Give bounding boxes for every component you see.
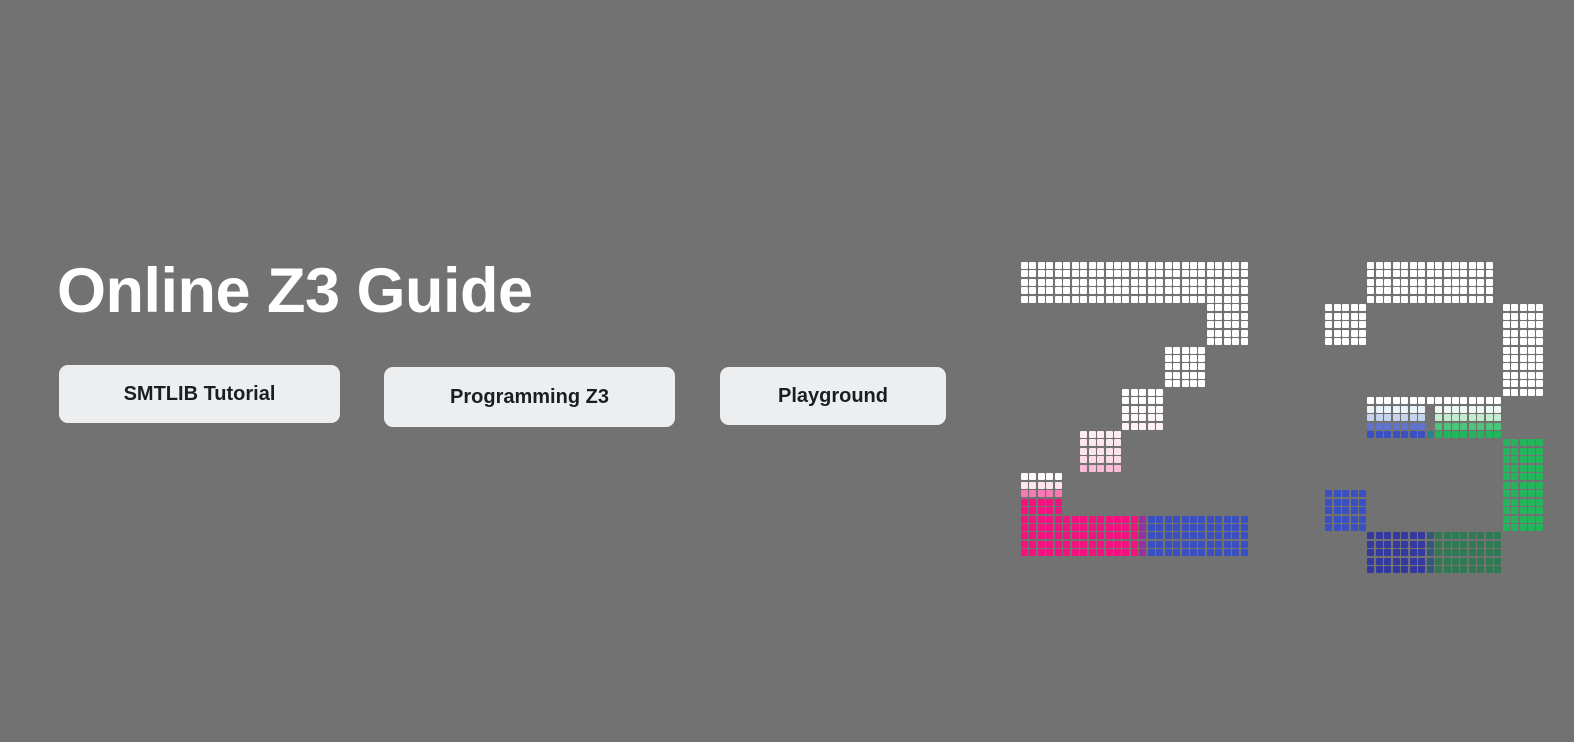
logo-pixel	[1444, 558, 1451, 565]
logo-pixel	[1148, 270, 1155, 277]
logo-pixel	[1055, 532, 1062, 539]
logo-pixel	[1224, 541, 1231, 548]
logo-pixel	[1046, 499, 1053, 506]
logo-pixel	[1520, 380, 1527, 387]
logo-pixel	[1486, 406, 1493, 413]
logo-pixel	[1190, 541, 1197, 548]
logo-pixel	[1511, 380, 1518, 387]
logo-pixel	[1215, 338, 1222, 345]
logo-pixel	[1114, 287, 1121, 294]
logo-pixel	[1241, 279, 1248, 286]
logo-pixel	[1207, 321, 1214, 328]
logo-pixel	[1393, 423, 1400, 430]
logo-pixel	[1503, 363, 1510, 370]
logo-pixel	[1376, 532, 1383, 539]
logo-pixel	[1520, 482, 1527, 489]
logo-pixel	[1427, 423, 1434, 430]
logo-pixel	[1089, 524, 1096, 531]
logo-pixel	[1122, 549, 1129, 556]
logo-pixel	[1444, 414, 1451, 421]
logo-pixel	[1080, 296, 1087, 303]
logo-pixel	[1122, 397, 1129, 404]
logo-pixel	[1072, 279, 1079, 286]
logo-pixel	[1367, 549, 1374, 556]
logo-pixel	[1536, 524, 1543, 531]
logo-pixel	[1444, 406, 1451, 413]
logo-pixel	[1131, 389, 1138, 396]
logo-pixel	[1444, 270, 1451, 277]
logo-pixel	[1367, 431, 1374, 438]
logo-pixel	[1198, 541, 1205, 548]
logo-pixel	[1494, 406, 1501, 413]
logo-pixel	[1089, 287, 1096, 294]
page-title: Online Z3 Guide	[57, 258, 957, 324]
logo-pixel	[1410, 532, 1417, 539]
logo-pixel	[1435, 566, 1442, 573]
logo-pixel	[1410, 549, 1417, 556]
logo-pixel	[1198, 296, 1205, 303]
logo-pixel	[1520, 499, 1527, 506]
logo-pixel	[1207, 313, 1214, 320]
logo-pixel	[1182, 347, 1189, 354]
logo-pixel	[1131, 414, 1138, 421]
logo-pixel	[1460, 532, 1467, 539]
logo-pixel	[1511, 507, 1518, 514]
logo-pixel	[1089, 456, 1096, 463]
logo-pixel	[1503, 380, 1510, 387]
logo-pixel	[1114, 279, 1121, 286]
logo-pixel	[1114, 532, 1121, 539]
logo-pixel	[1393, 287, 1400, 294]
logo-pixel	[1401, 287, 1408, 294]
logo-pixel	[1165, 549, 1172, 556]
logo-pixel	[1038, 270, 1045, 277]
logo-pixel	[1131, 549, 1138, 556]
logo-pixel	[1241, 516, 1248, 523]
logo-pixel	[1148, 262, 1155, 269]
logo-pixel	[1097, 287, 1104, 294]
logo-pixel	[1427, 431, 1434, 438]
logo-pixel	[1342, 524, 1349, 531]
logo-pixel	[1410, 431, 1417, 438]
logo-pixel	[1021, 473, 1028, 480]
logo-pixel	[1334, 330, 1341, 337]
logo-pixel	[1469, 414, 1476, 421]
logo-pixel	[1106, 516, 1113, 523]
logo-pixel	[1376, 287, 1383, 294]
logo-pixel	[1021, 549, 1028, 556]
logo-pixel	[1224, 304, 1231, 311]
logo-pixel	[1477, 262, 1484, 269]
logo-pixel	[1503, 338, 1510, 345]
logo-pixel	[1114, 524, 1121, 531]
logo-pixel	[1114, 465, 1121, 472]
logo-pixel	[1114, 448, 1121, 455]
logo-pixel	[1198, 279, 1205, 286]
programming-z3-button[interactable]: Programming Z3	[384, 367, 675, 427]
logo-pixel	[1384, 279, 1391, 286]
logo-pixel	[1460, 558, 1467, 565]
logo-pixel	[1325, 330, 1332, 337]
logo-pixel	[1190, 549, 1197, 556]
logo-pixel	[1182, 287, 1189, 294]
logo-pixel	[1410, 566, 1417, 573]
logo-pixel	[1038, 262, 1045, 269]
hero-section: Online Z3 Guide SMTLIB Tutorial Programm…	[0, 0, 1574, 742]
logo-pixel	[1097, 448, 1104, 455]
logo-pixel	[1063, 262, 1070, 269]
logo-pixel	[1444, 287, 1451, 294]
logo-pixel	[1131, 423, 1138, 430]
logo-pixel	[1021, 516, 1028, 523]
logo-pixel	[1393, 406, 1400, 413]
logo-pixel	[1528, 321, 1535, 328]
logo-pixel	[1511, 355, 1518, 362]
logo-pixel	[1418, 397, 1425, 404]
logo-pixel	[1520, 347, 1527, 354]
logo-pixel	[1528, 347, 1535, 354]
logo-pixel	[1342, 338, 1349, 345]
logo-pixel	[1215, 532, 1222, 539]
logo-pixel	[1232, 524, 1239, 531]
logo-pixel	[1241, 532, 1248, 539]
logo-pixel	[1452, 406, 1459, 413]
logo-pixel	[1418, 262, 1425, 269]
logo-pixel	[1503, 507, 1510, 514]
logo-pixel	[1418, 541, 1425, 548]
logo-pixel	[1190, 355, 1197, 362]
logo-pixel	[1182, 524, 1189, 531]
logo-pixel	[1460, 287, 1467, 294]
logo-pixel	[1401, 414, 1408, 421]
logo-pixel	[1148, 389, 1155, 396]
logo-pixel	[1469, 397, 1476, 404]
logo-pixel	[1114, 270, 1121, 277]
logo-pixel	[1384, 414, 1391, 421]
logo-pixel	[1029, 507, 1036, 514]
logo-pixel	[1190, 380, 1197, 387]
logo-pixel	[1046, 262, 1053, 269]
logo-pixel	[1469, 287, 1476, 294]
logo-pixel	[1376, 549, 1383, 556]
logo-pixel	[1148, 406, 1155, 413]
logo-pixel	[1367, 270, 1374, 277]
logo-pixel	[1029, 516, 1036, 523]
logo-pixel	[1122, 389, 1129, 396]
logo-pixel	[1528, 330, 1535, 337]
logo-pixel	[1469, 296, 1476, 303]
logo-pixel	[1520, 372, 1527, 379]
logo-pixel	[1198, 516, 1205, 523]
logo-pixel	[1055, 279, 1062, 286]
logo-pixel	[1131, 524, 1138, 531]
logo-pixel	[1536, 507, 1543, 514]
logo-pixel	[1063, 541, 1070, 548]
logo-pixel	[1359, 524, 1366, 531]
logo-pixel	[1215, 516, 1222, 523]
logo-pixel	[1393, 558, 1400, 565]
logo-pixel	[1165, 287, 1172, 294]
logo-pixel	[1401, 431, 1408, 438]
logo-pixel	[1165, 541, 1172, 548]
logo-pixel	[1367, 397, 1374, 404]
logo-pixel	[1528, 490, 1535, 497]
logo-pixel	[1351, 499, 1358, 506]
logo-pixel	[1477, 423, 1484, 430]
logo-pixel	[1139, 524, 1146, 531]
logo-pixel	[1038, 482, 1045, 489]
logo-pixel	[1055, 549, 1062, 556]
logo-pixel	[1401, 566, 1408, 573]
logo-pixel	[1097, 270, 1104, 277]
logo-pixel	[1156, 270, 1163, 277]
logo-pixel	[1131, 296, 1138, 303]
logo-pixel	[1089, 296, 1096, 303]
logo-pixel	[1325, 490, 1332, 497]
logo-pixel	[1190, 262, 1197, 269]
logo-pixel	[1444, 397, 1451, 404]
logo-pixel	[1029, 296, 1036, 303]
logo-pixel	[1393, 549, 1400, 556]
logo-pixel	[1536, 448, 1543, 455]
logo-pixel	[1021, 279, 1028, 286]
logo-pixel	[1165, 363, 1172, 370]
logo-pixel	[1148, 532, 1155, 539]
logo-pixel	[1418, 296, 1425, 303]
logo-pixel	[1342, 321, 1349, 328]
logo-pixel	[1055, 270, 1062, 277]
logo-pixel	[1528, 465, 1535, 472]
logo-pixel	[1444, 566, 1451, 573]
logo-pixel	[1511, 372, 1518, 379]
logo-pixel	[1080, 439, 1087, 446]
logo-pixel	[1469, 262, 1476, 269]
logo-pixel	[1215, 549, 1222, 556]
logo-pixel	[1046, 473, 1053, 480]
logo-pixel	[1106, 439, 1113, 446]
logo-pixel	[1198, 524, 1205, 531]
logo-pixel	[1376, 296, 1383, 303]
logo-pixel	[1131, 287, 1138, 294]
logo-pixel	[1055, 524, 1062, 531]
logo-pixel	[1021, 532, 1028, 539]
logo-pixel	[1469, 532, 1476, 539]
logo-pixel	[1046, 524, 1053, 531]
logo-pixel	[1359, 321, 1366, 328]
logo-pixel	[1477, 532, 1484, 539]
logo-pixel	[1215, 296, 1222, 303]
logo-pixel	[1427, 558, 1434, 565]
logo-pixel	[1359, 313, 1366, 320]
logo-pixel	[1342, 516, 1349, 523]
logo-pixel	[1182, 355, 1189, 362]
logo-pixel	[1038, 287, 1045, 294]
logo-pixel	[1029, 490, 1036, 497]
logo-pixel	[1029, 287, 1036, 294]
logo-pixel	[1494, 397, 1501, 404]
logo-pixel	[1046, 532, 1053, 539]
logo-pixel	[1198, 532, 1205, 539]
logo-pixel	[1427, 287, 1434, 294]
logo-pixel	[1106, 279, 1113, 286]
logo-pixel	[1182, 296, 1189, 303]
logo-pixel	[1460, 397, 1467, 404]
logo-pixel	[1503, 355, 1510, 362]
logo-pixel	[1089, 439, 1096, 446]
logo-pixel	[1503, 448, 1510, 455]
logo-pixel	[1452, 549, 1459, 556]
logo-pixel	[1106, 541, 1113, 548]
logo-pixel	[1460, 279, 1467, 286]
logo-pixel	[1486, 558, 1493, 565]
logo-pixel	[1325, 304, 1332, 311]
logo-pixel	[1435, 414, 1442, 421]
logo-pixel	[1520, 355, 1527, 362]
logo-pixel	[1334, 321, 1341, 328]
logo-pixel	[1536, 516, 1543, 523]
logo-pixel	[1384, 532, 1391, 539]
logo-pixel	[1520, 439, 1527, 446]
logo-pixel	[1351, 304, 1358, 311]
logo-pixel	[1469, 549, 1476, 556]
logo-pixel	[1536, 330, 1543, 337]
logo-pixel	[1224, 287, 1231, 294]
logo-pixel	[1393, 279, 1400, 286]
logo-pixel	[1072, 287, 1079, 294]
logo-pixel	[1494, 532, 1501, 539]
logo-pixel	[1376, 406, 1383, 413]
logo-pixel	[1503, 330, 1510, 337]
logo-pixel	[1494, 558, 1501, 565]
logo-pixel	[1359, 490, 1366, 497]
logo-pixel	[1207, 330, 1214, 337]
logo-pixel	[1089, 549, 1096, 556]
logo-pixel	[1444, 279, 1451, 286]
logo-pixel	[1232, 330, 1239, 337]
logo-pixel	[1080, 524, 1087, 531]
logo-pixel	[1046, 549, 1053, 556]
logo-pixel	[1528, 482, 1535, 489]
logo-pixel	[1131, 532, 1138, 539]
logo-pixel	[1232, 532, 1239, 539]
logo-pixel	[1511, 363, 1518, 370]
logo-pixel	[1021, 482, 1028, 489]
logo-pixel	[1393, 270, 1400, 277]
logo-pixel	[1460, 431, 1467, 438]
logo-pixel	[1207, 270, 1214, 277]
logo-pixel	[1072, 262, 1079, 269]
logo-pixel	[1435, 397, 1442, 404]
logo-pixel	[1342, 330, 1349, 337]
logo-pixel	[1520, 465, 1527, 472]
logo-pixel	[1503, 456, 1510, 463]
cta-button-row: SMTLIB Tutorial Programming Z3 Playgroun…	[59, 365, 946, 427]
logo-pixel	[1393, 262, 1400, 269]
logo-pixel	[1486, 532, 1493, 539]
logo-pixel	[1097, 439, 1104, 446]
logo-pixel	[1097, 456, 1104, 463]
logo-pixel	[1232, 549, 1239, 556]
logo-pixel	[1536, 389, 1543, 396]
logo-pixel	[1173, 380, 1180, 387]
logo-pixel	[1401, 406, 1408, 413]
logo-pixel	[1106, 532, 1113, 539]
logo-pixel	[1148, 549, 1155, 556]
logo-pixel	[1038, 279, 1045, 286]
logo-pixel	[1486, 296, 1493, 303]
logo-pixel	[1435, 279, 1442, 286]
playground-button[interactable]: Playground	[720, 367, 946, 425]
logo-pixel	[1114, 431, 1121, 438]
logo-pixel	[1401, 558, 1408, 565]
logo-pixel	[1334, 524, 1341, 531]
logo-pixel	[1503, 473, 1510, 480]
logo-pixel	[1536, 347, 1543, 354]
logo-pixel	[1393, 397, 1400, 404]
logo-pixel	[1401, 423, 1408, 430]
logo-pixel	[1021, 507, 1028, 514]
logo-pixel	[1359, 304, 1366, 311]
logo-pixel	[1097, 524, 1104, 531]
logo-pixel	[1097, 279, 1104, 286]
logo-pixel	[1232, 541, 1239, 548]
logo-pixel	[1029, 499, 1036, 506]
logo-pixel	[1207, 338, 1214, 345]
smtlib-tutorial-button[interactable]: SMTLIB Tutorial	[59, 365, 340, 423]
logo-pixel	[1536, 355, 1543, 362]
logo-pixel	[1486, 431, 1493, 438]
logo-pixel	[1536, 465, 1543, 472]
logo-pixel	[1444, 423, 1451, 430]
logo-pixel	[1452, 279, 1459, 286]
logo-pixel	[1393, 296, 1400, 303]
logo-pixel	[1106, 549, 1113, 556]
logo-pixel	[1486, 541, 1493, 548]
logo-pixel	[1173, 347, 1180, 354]
logo-pixel	[1393, 566, 1400, 573]
logo-pixel	[1444, 431, 1451, 438]
logo-pixel	[1334, 499, 1341, 506]
logo-pixel	[1089, 431, 1096, 438]
logo-pixel	[1097, 431, 1104, 438]
logo-pixel	[1232, 270, 1239, 277]
logo-pixel	[1241, 270, 1248, 277]
logo-pixel	[1072, 296, 1079, 303]
logo-pixel	[1494, 541, 1501, 548]
logo-pixel	[1165, 516, 1172, 523]
logo-pixel	[1334, 338, 1341, 345]
logo-pixel	[1520, 313, 1527, 320]
logo-pixel	[1384, 397, 1391, 404]
logo-pixel	[1528, 456, 1535, 463]
logo-pixel	[1173, 532, 1180, 539]
logo-pixel	[1063, 532, 1070, 539]
logo-pixel	[1241, 296, 1248, 303]
logo-pixel	[1224, 549, 1231, 556]
logo-pixel	[1460, 270, 1467, 277]
logo-pixel	[1427, 270, 1434, 277]
logo-pixel	[1384, 406, 1391, 413]
logo-pixel	[1376, 262, 1383, 269]
logo-pixel	[1486, 287, 1493, 294]
logo-pixel	[1367, 296, 1374, 303]
logo-pixel	[1486, 549, 1493, 556]
logo-pixel	[1215, 270, 1222, 277]
logo-pixel	[1393, 532, 1400, 539]
logo-pixel	[1511, 389, 1518, 396]
logo-pixel	[1021, 490, 1028, 497]
logo-pixel	[1367, 541, 1374, 548]
